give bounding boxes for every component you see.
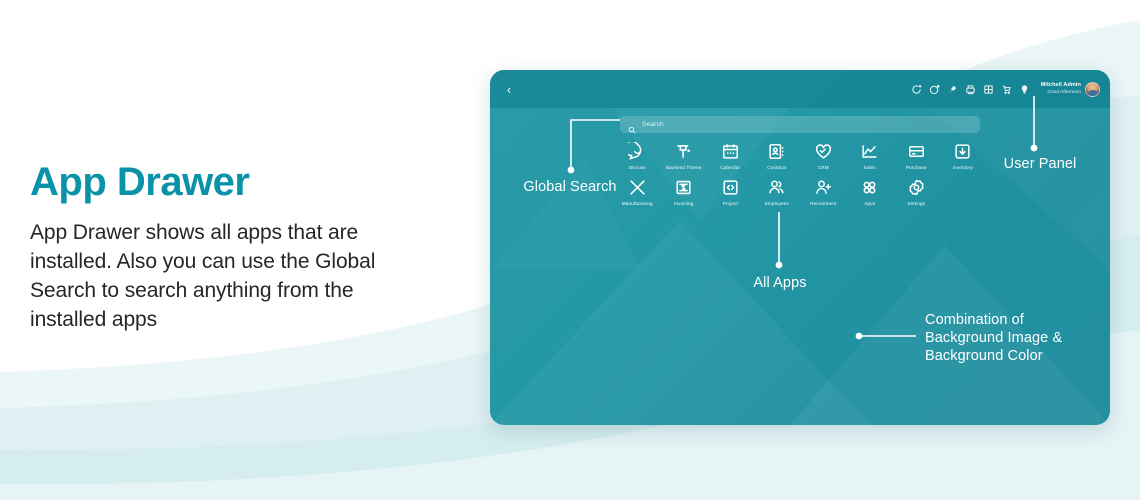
invoicing-icon [674,178,693,197]
app-tile-inventory[interactable]: Inventory [940,142,987,170]
annotation-background: Combination of Background Image & Backgr… [925,311,1115,365]
page-title: App Drawer [30,160,430,204]
backend-theme-icon [674,142,693,161]
calendar-icon [721,142,740,161]
app-tile-sales[interactable]: Sales [847,142,894,170]
app-tile-calendar[interactable]: Calendar [707,142,754,170]
search-icon [628,121,636,129]
messages-icon[interactable] [911,84,922,95]
app-label: Apps [864,201,875,206]
app-label: Contacts [767,165,786,170]
app-tile-employees[interactable]: Employees [754,178,801,206]
app-tile-purchase[interactable]: Purchase [893,142,940,170]
inventory-icon [953,142,972,161]
app-tile-settings[interactable]: Settings [893,178,940,206]
sales-icon [860,142,879,161]
annotation-all-apps: All Apps [730,274,830,292]
project-icon [721,178,740,197]
app-label: Settings [907,201,925,206]
app-tile-project[interactable]: Project [707,178,754,206]
header-icon-tray: Mitchell Admin Good Afternoon [911,82,1100,97]
crm-icon [814,142,833,161]
app-label: Manufacturing [622,201,653,206]
app-label: Recruitment [810,201,836,206]
annotation-background-line1: Combination of [925,311,1115,329]
contacts-icon [767,142,786,161]
avatar[interactable] [1085,82,1100,97]
page-description: App Drawer shows all apps that are insta… [30,218,430,334]
chevron-left-icon[interactable]: ‹ [500,80,518,98]
user-greeting: Good Afternoon [1047,90,1081,95]
app-label: Inventory [953,165,973,170]
user-name-block: Mitchell Admin Good Afternoon [1041,83,1081,94]
app-label: Invoicing [674,201,693,206]
app-label: Discuss [629,165,646,170]
manufacturing-icon [628,178,647,197]
annotation-global-search: Global Search [515,178,625,196]
settings-icon [907,178,926,197]
global-search-input[interactable]: Search [620,116,980,133]
app-label: Employees [765,201,789,206]
app-label: Sales [864,165,876,170]
annotation-background-line3: Background Color [925,347,1115,365]
left-copy-block: App Drawer App Drawer shows all apps tha… [30,160,430,334]
app-tile-crm[interactable]: CRM [800,142,847,170]
app-label: Backend Theme [666,165,701,170]
grid-icon[interactable] [983,84,994,95]
annotation-background-line2: Background Image & [925,329,1115,347]
discuss-icon [628,142,647,161]
panel-header: ‹ [490,70,1110,108]
activity-icon[interactable] [929,84,940,95]
slide-canvas: App Drawer App Drawer shows all apps tha… [0,0,1140,500]
apps-icon [860,178,879,197]
bug-icon[interactable] [947,84,958,95]
app-tile-backend-theme[interactable]: Backend Theme [661,142,708,170]
recruitment-icon [814,178,833,197]
app-tile-discuss[interactable]: Discuss [614,142,661,170]
app-label: Purchase [906,165,927,170]
app-label: Calendar [720,165,740,170]
app-tile-apps[interactable]: Apps [847,178,894,206]
user-panel[interactable]: Mitchell Admin Good Afternoon [1041,82,1100,97]
cart-icon[interactable] [1001,84,1012,95]
annotation-user-panel: User Panel [985,155,1095,173]
app-label: CRM [818,165,829,170]
employees-icon [767,178,786,197]
app-tile-invoicing[interactable]: Invoicing [661,178,708,206]
app-tile-recruitment[interactable]: Recruitment [800,178,847,206]
bulb-icon[interactable] [1019,84,1030,95]
search-placeholder: Search [642,121,664,128]
app-label: Project [723,201,738,206]
printer-icon[interactable] [965,84,976,95]
app-grid: Discuss Backend Theme [614,142,986,206]
purchase-icon [907,142,926,161]
app-drawer-panel: ‹ [490,70,1110,425]
app-tile-contacts[interactable]: Contacts [754,142,801,170]
